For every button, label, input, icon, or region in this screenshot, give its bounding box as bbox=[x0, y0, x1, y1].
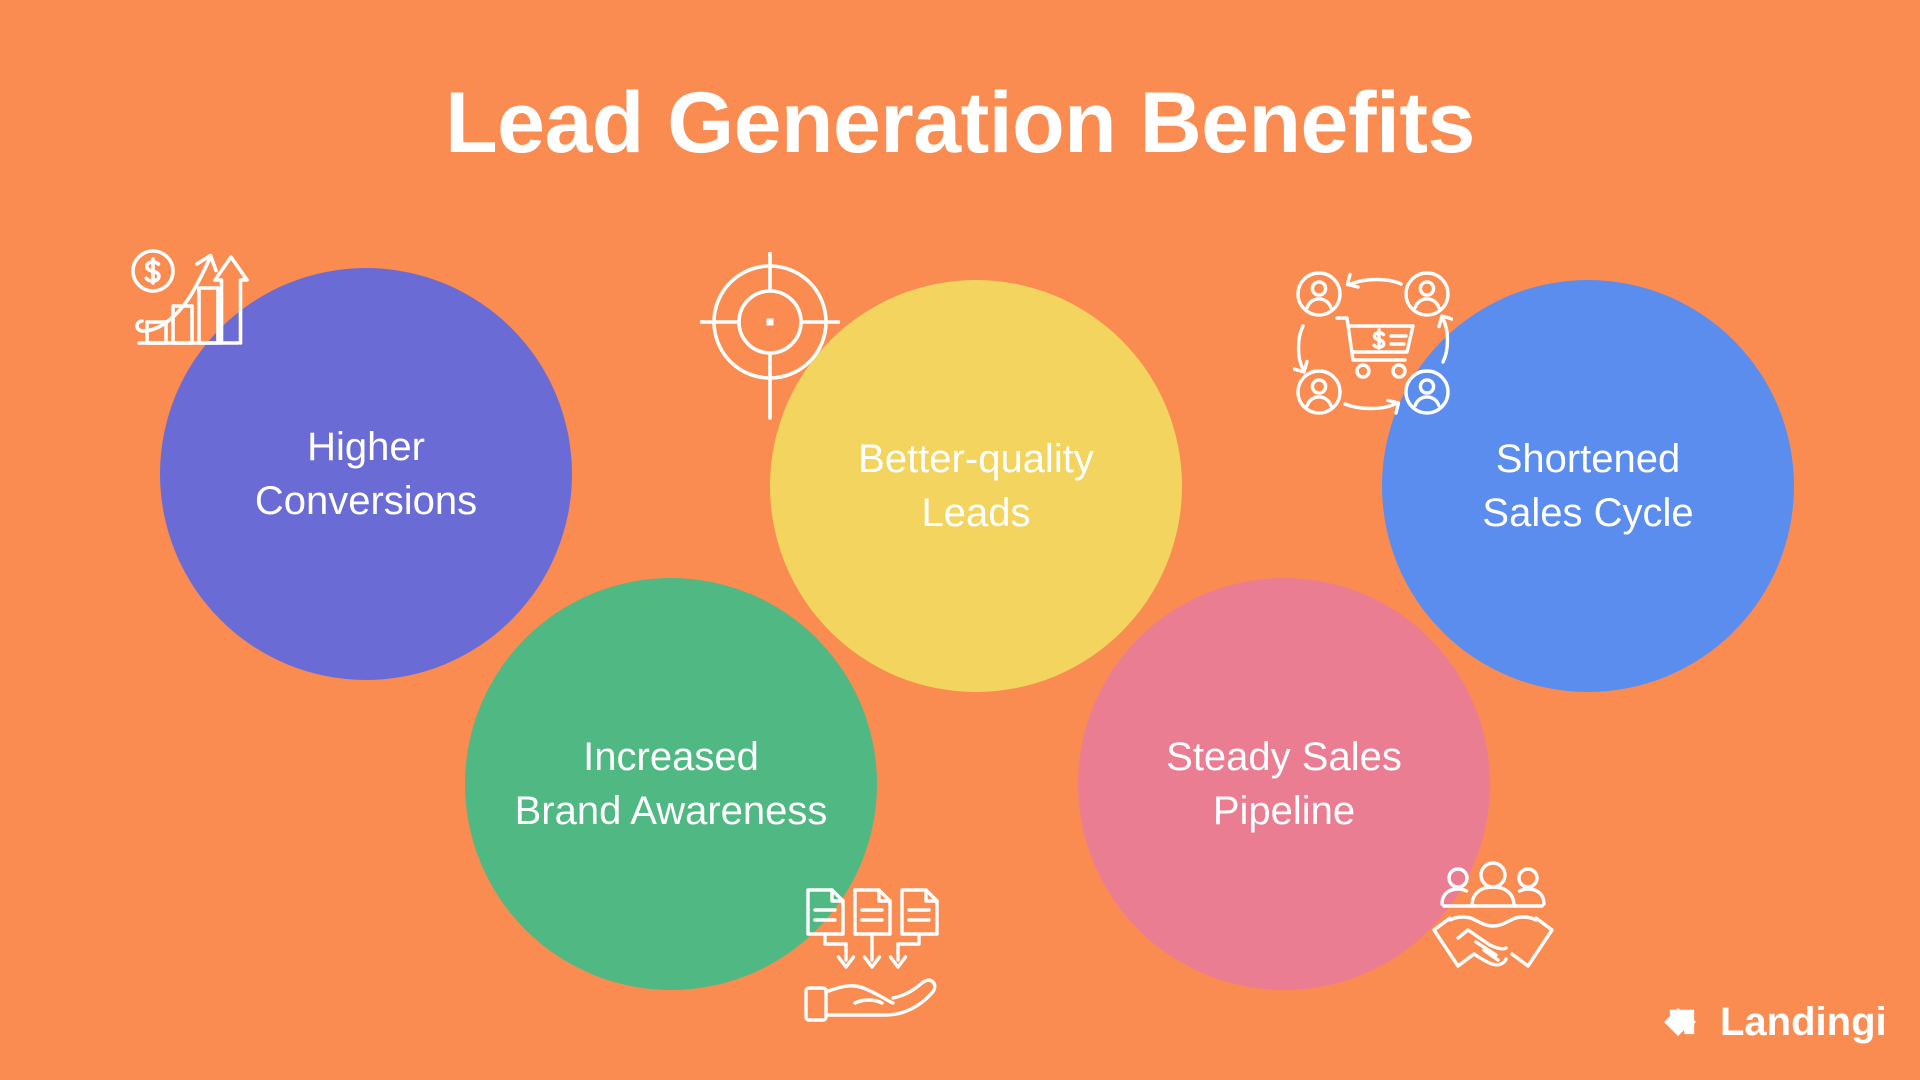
benefit-bubble-steady-sales-pipeline: Steady Sales Pipeline bbox=[1078, 578, 1490, 990]
benefit-label-steady-sales-pipeline: Steady Sales Pipeline bbox=[1148, 730, 1420, 838]
benefit-label-line1: Better-quality bbox=[858, 437, 1094, 481]
page-title: Lead Generation Benefits bbox=[0, 78, 1920, 168]
benefit-label-increased-brand-awareness: Increased Brand Awareness bbox=[497, 730, 846, 838]
landingi-wordmark: Landingi bbox=[1720, 1002, 1887, 1042]
benefit-label-line1: Steady Sales bbox=[1166, 735, 1402, 779]
benefit-label-better-quality-leads: Better-quality Leads bbox=[840, 432, 1112, 540]
benefit-bubble-shortened-sales-cycle: Shortened Sales Cycle bbox=[1382, 280, 1794, 692]
benefit-bubble-better-quality-leads: Better-quality Leads bbox=[770, 280, 1182, 692]
benefit-bubble-increased-brand-awareness: Increased Brand Awareness bbox=[465, 578, 877, 990]
benefit-label-line1: Increased bbox=[583, 735, 759, 779]
benefit-label-line2: Conversions bbox=[255, 479, 477, 523]
benefit-label-line2: Sales Cycle bbox=[1482, 491, 1693, 535]
benefit-label-line2: Pipeline bbox=[1213, 789, 1355, 833]
benefit-label-shortened-sales-cycle: Shortened Sales Cycle bbox=[1464, 432, 1711, 540]
benefit-label-line2: Brand Awareness bbox=[515, 789, 828, 833]
benefit-label-line1: Higher bbox=[307, 425, 425, 469]
benefit-bubble-higher-conversions: Higher Conversions bbox=[160, 268, 572, 680]
benefit-label-higher-conversions: Higher Conversions bbox=[237, 420, 495, 528]
infographic-canvas: Lead Generation Benefits Higher Conversi… bbox=[0, 0, 1920, 1080]
benefit-label-line2: Leads bbox=[922, 491, 1031, 535]
landingi-logo: Landingi bbox=[1660, 1000, 1887, 1044]
benefit-label-line1: Shortened bbox=[1496, 437, 1681, 481]
landingi-diamond-icon bbox=[1660, 1000, 1704, 1044]
